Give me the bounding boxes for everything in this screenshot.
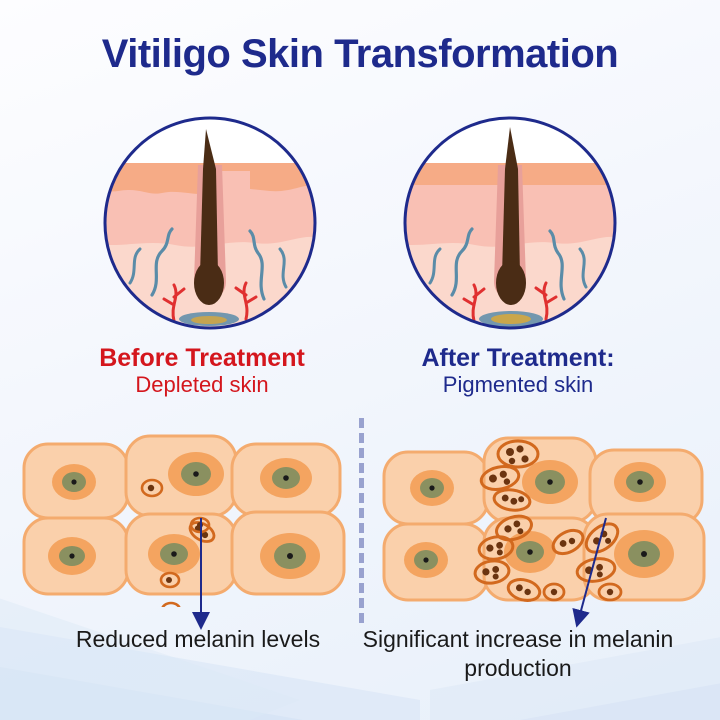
- after-label-sub: Pigmented skin: [358, 372, 678, 398]
- before-label-block: Before Treatment Depleted skin: [42, 344, 362, 398]
- before-label-main: Before Treatment: [42, 344, 362, 372]
- page-title: Vitiligo Skin Transformation: [0, 32, 720, 77]
- before-skin-diagram: [100, 113, 320, 333]
- panel-divider: [359, 418, 364, 623]
- before-annotation-arrow: [180, 512, 230, 637]
- infographic-canvas: Vitiligo Skin Transformation: [0, 0, 720, 720]
- before-label-sub: Depleted skin: [42, 372, 362, 398]
- after-label-main: After Treatment:: [358, 344, 678, 372]
- after-cell-cluster: [378, 432, 718, 607]
- after-label-block: After Treatment: Pigmented skin: [358, 344, 678, 398]
- after-caption: Significant increase in melanin producti…: [358, 625, 678, 683]
- after-annotation-arrow: [560, 512, 630, 637]
- after-skin-diagram: [400, 113, 620, 333]
